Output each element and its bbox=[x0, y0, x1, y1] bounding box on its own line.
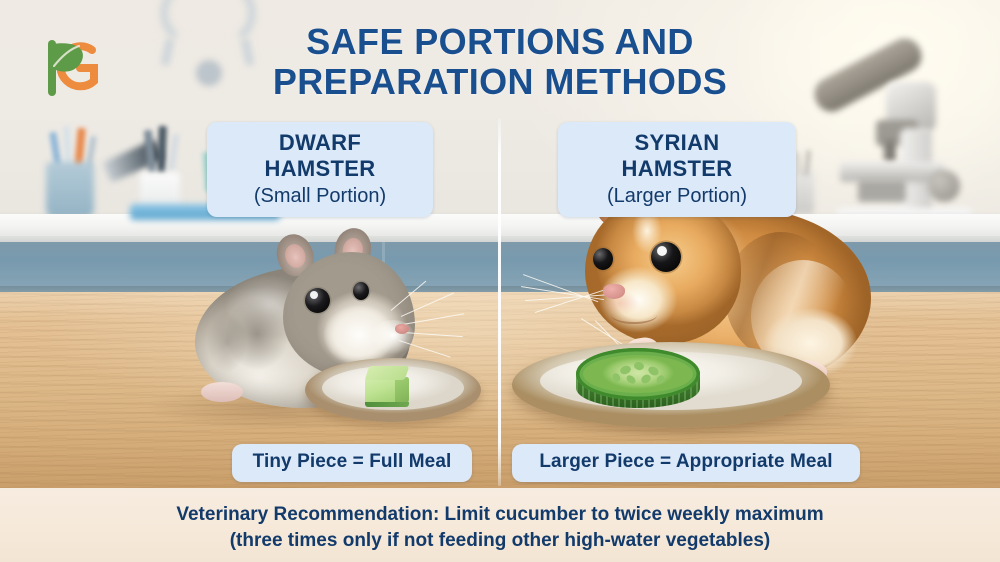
cucumber-seed bbox=[611, 372, 622, 383]
hamster-flank-shading bbox=[199, 300, 255, 384]
dwarf-portion-caption: Tiny Piece = Full Meal bbox=[232, 444, 472, 482]
small-ceramic-dish bbox=[305, 358, 481, 422]
syrian-hamster-badge: SYRIAN HAMSTER (Larger Portion) bbox=[558, 122, 796, 217]
hamster-nose bbox=[395, 324, 409, 334]
hamster-mouth bbox=[611, 306, 657, 324]
cucumber-cube-top bbox=[365, 366, 410, 380]
hamster-hind-foot bbox=[201, 382, 243, 402]
microscope-knob-icon bbox=[928, 170, 960, 202]
syrian-badge-title: SYRIAN HAMSTER bbox=[576, 130, 778, 183]
cucumber-cube-icon bbox=[365, 366, 409, 406]
dwarf-badge-subtitle: (Small Portion) bbox=[225, 184, 415, 208]
hamster-eye-right bbox=[651, 242, 681, 272]
hamster-nose bbox=[603, 284, 625, 299]
cucumber-slice-flesh bbox=[576, 348, 700, 400]
footer-line-1: Veterinary Recommendation: Limit cucumbe… bbox=[0, 502, 1000, 528]
infographic-canvas: SAFE PORTIONS AND PREPARATION METHODS DW… bbox=[0, 0, 1000, 562]
page-title: SAFE PORTIONS AND PREPARATION METHODS bbox=[0, 22, 1000, 103]
hamster-muzzle bbox=[371, 320, 415, 354]
cucumber-seed bbox=[655, 374, 666, 385]
cucumber-slice-icon bbox=[576, 348, 700, 414]
syrian-portion-caption: Larger Piece = Appropriate Meal bbox=[512, 444, 860, 482]
cucumber-cube-peel bbox=[365, 402, 409, 407]
dwarf-badge-title: DWARF HAMSTER bbox=[225, 130, 415, 183]
cucumber-seed bbox=[625, 374, 637, 386]
hamster-eye-right bbox=[353, 282, 369, 300]
syrian-badge-subtitle: (Larger Portion) bbox=[576, 184, 778, 208]
hamster-eye-highlight bbox=[310, 291, 318, 299]
cucumber-seed bbox=[633, 361, 645, 371]
cucumber-seed bbox=[640, 373, 653, 385]
pen-icon bbox=[157, 126, 167, 174]
veterinary-recommendation: Veterinary Recommendation: Limit cucumbe… bbox=[0, 502, 1000, 554]
cucumber-seed bbox=[619, 364, 632, 375]
hamster-eye-highlight bbox=[657, 246, 667, 256]
large-ceramic-plate bbox=[512, 342, 830, 428]
title-line-1: SAFE PORTIONS AND bbox=[0, 22, 1000, 62]
microscope-lens-icon bbox=[884, 140, 896, 162]
panel-divider bbox=[498, 118, 501, 486]
footer-line-2: (three times only if not feeding other h… bbox=[0, 528, 1000, 554]
hamster-eye-left bbox=[593, 248, 613, 270]
dwarf-hamster-badge: DWARF HAMSTER (Small Portion) bbox=[207, 122, 433, 217]
title-line-2: PREPARATION METHODS bbox=[0, 62, 1000, 102]
pencil-cup-icon bbox=[46, 162, 94, 218]
hamster-eye-left bbox=[305, 288, 330, 313]
hamster-inner-ear bbox=[282, 241, 308, 270]
